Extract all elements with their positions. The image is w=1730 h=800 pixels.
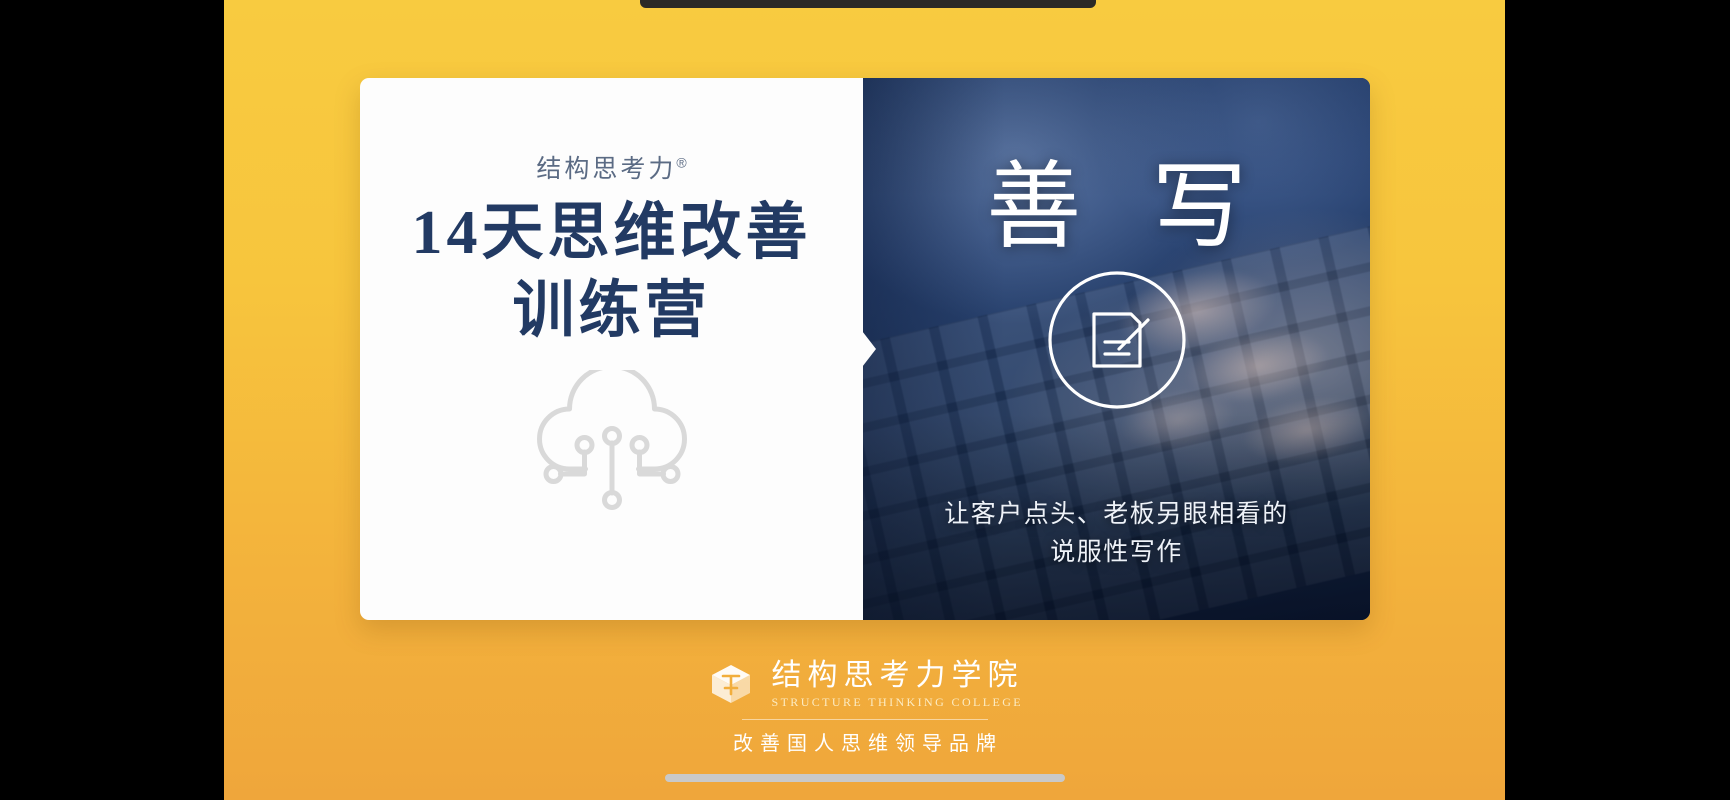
cloud-network-icon — [529, 370, 694, 510]
top-notch-bar — [640, 0, 1096, 8]
card-left-panel: 结构思考力® 14天思维改善 训练营 — [360, 78, 863, 620]
brand-footer: 结构思考力学院 STRUCTURE THINKING COLLEGE 改善国人思… — [224, 660, 1505, 756]
brand-divider — [742, 719, 988, 720]
right-panel-headline: 善 写 — [863, 130, 1370, 267]
brand-tagline: 改善国人思维领导品牌 — [726, 727, 1003, 756]
course-card[interactable]: 结构思考力® 14天思维改善 训练营 — [360, 78, 1370, 620]
letterbox-right — [1505, 0, 1730, 800]
registered-mark-icon: ® — [676, 155, 686, 171]
brand-name-cn: 结构思考力学院 — [772, 660, 1024, 692]
slide-canvas[interactable]: 结构思考力® 14天思维改善 训练营 — [224, 0, 1505, 800]
brand-lockup-row: 结构思考力学院 STRUCTURE THINKING COLLEGE — [706, 660, 1024, 710]
course-title-line-1: 14天思维改善 — [360, 195, 863, 273]
right-panel-subtitle: 让客户点头、老板另眼相看的 说服性写作 — [863, 495, 1370, 573]
letterbox-left — [0, 0, 224, 800]
card-right-panel: 善 写 让客户点头、老板另眼相看的 说服性写作 — [863, 78, 1370, 620]
panel-divider-chevron-icon — [859, 327, 876, 371]
right-panel-subtitle-line-2: 说服性写作 — [863, 533, 1370, 572]
brand-trademark-text: 结构思考力 — [536, 155, 676, 183]
video-player-stage: 结构思考力® 14天思维改善 训练营 — [0, 0, 1730, 800]
course-title-line-2: 训练营 — [360, 273, 863, 351]
brand-name-en: STRUCTURE THINKING COLLEGE — [772, 695, 1024, 710]
home-indicator-bar[interactable] — [665, 774, 1065, 782]
course-title: 14天思维改善 训练营 — [360, 195, 863, 350]
brand-trademark-label: 结构思考力® — [360, 149, 863, 185]
write-document-icon — [1047, 270, 1187, 410]
brand-names: 结构思考力学院 STRUCTURE THINKING COLLEGE — [772, 660, 1024, 710]
right-panel-subtitle-line-1: 让客户点头、老板另眼相看的 — [863, 495, 1370, 534]
structure-thinking-logo-icon — [706, 660, 756, 710]
